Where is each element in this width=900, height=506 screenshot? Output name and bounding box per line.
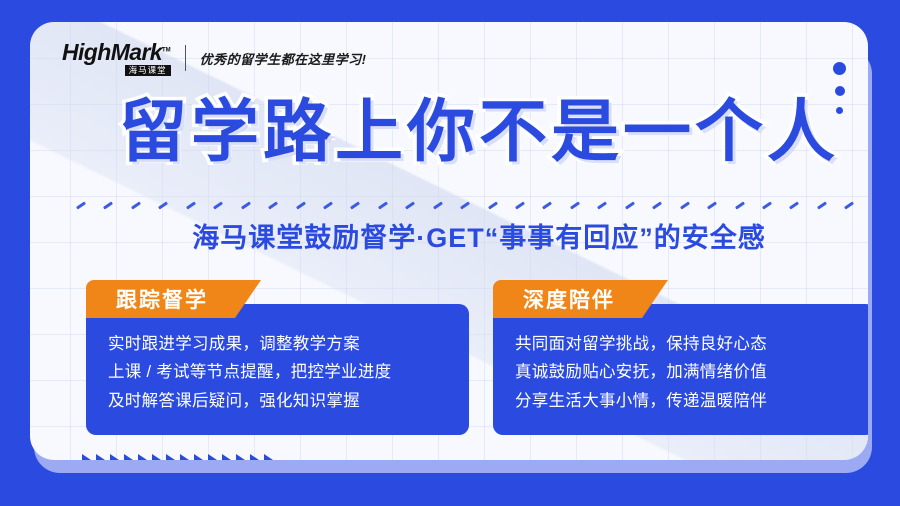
dash-mark-icon bbox=[186, 201, 196, 209]
dash-mark-icon bbox=[542, 201, 552, 209]
logo-wordmark-text: HighMark bbox=[62, 39, 162, 65]
card-title: 跟踪督学 bbox=[116, 284, 208, 314]
dot-decoration-group bbox=[833, 62, 846, 114]
page-subtitle: 海马课堂鼓励督学·GET“事事有回应”的安全感 bbox=[66, 220, 868, 258]
promotional-banner: HighMarkTM 海马课堂 优秀的留学生都在这里学习! 留学路上你不是一个人… bbox=[0, 0, 900, 506]
logo-wordmark: HighMarkTM bbox=[62, 41, 171, 64]
triangle-arrow-icon bbox=[110, 454, 119, 460]
card-header-banner: 深度陪伴 bbox=[493, 280, 668, 318]
card-body: 实时跟进学习成果，调整教学方案 上课 / 考试等节点提醒，把控学业进度 及时解答… bbox=[86, 304, 469, 435]
triangle-arrow-icon bbox=[166, 454, 175, 460]
content-panel: HighMarkTM 海马课堂 优秀的留学生都在这里学习! 留学路上你不是一个人… bbox=[30, 22, 868, 460]
triangle-arrow-icon bbox=[264, 454, 273, 460]
triangle-arrow-icon bbox=[250, 454, 259, 460]
dash-mark-icon bbox=[707, 201, 717, 209]
triangle-arrow-icon bbox=[152, 454, 161, 460]
dash-mark-icon bbox=[488, 201, 498, 209]
card-header-banner: 跟踪督学 bbox=[86, 280, 261, 318]
brand-header: HighMarkTM 海马课堂 优秀的留学生都在这里学习! bbox=[62, 38, 367, 78]
dash-mark-icon bbox=[405, 201, 415, 209]
small-dot-icon bbox=[836, 107, 843, 114]
trademark-icon: TM bbox=[162, 47, 171, 53]
triangle-arrow-icon bbox=[96, 454, 105, 460]
triangle-arrow-icon bbox=[180, 454, 189, 460]
dash-mark-icon bbox=[296, 201, 306, 209]
card-body: 共同面对留学挑战，保持良好心态 真诚鼓励贴心安抚，加满情绪价值 分享生活大事小情… bbox=[493, 304, 868, 435]
dash-mark-icon bbox=[460, 201, 470, 209]
card-line: 实时跟进学习成果，调整教学方案 bbox=[108, 330, 447, 358]
triangle-arrow-icon bbox=[82, 454, 91, 460]
medium-dot-icon bbox=[835, 86, 845, 96]
dash-mark-icon bbox=[323, 201, 333, 209]
card-title: 深度陪伴 bbox=[523, 284, 615, 314]
dash-mark-icon bbox=[844, 201, 854, 209]
triangle-arrow-icon bbox=[222, 454, 231, 460]
triangle-arrow-icon bbox=[138, 454, 147, 460]
dash-mark-icon bbox=[762, 201, 772, 209]
dash-mark-icon bbox=[597, 201, 607, 209]
dash-mark-icon bbox=[103, 201, 113, 209]
dash-mark-icon bbox=[680, 201, 690, 209]
dash-mark-icon bbox=[515, 201, 525, 209]
highmark-logo: HighMarkTM 海马课堂 bbox=[62, 39, 171, 77]
page-title: 留学路上你不是一个人 bbox=[66, 98, 868, 166]
dash-mark-icon bbox=[817, 201, 827, 209]
dash-mark-icon bbox=[268, 201, 278, 209]
feature-card-companionship: 深度陪伴 共同面对留学挑战，保持良好心态 真诚鼓励贴心安抚，加满情绪价值 分享生… bbox=[493, 280, 868, 435]
dash-mark-icon bbox=[433, 201, 443, 209]
triangle-arrow-icon bbox=[194, 454, 203, 460]
dash-mark-icon bbox=[378, 201, 388, 209]
brand-tagline: 优秀的留学生都在这里学习! bbox=[200, 49, 367, 68]
card-line: 真诚鼓励贴心安抚，加满情绪价值 bbox=[515, 358, 854, 386]
card-line: 及时解答课后疑问，强化知识掌握 bbox=[108, 387, 447, 415]
card-line: 共同面对留学挑战，保持良好心态 bbox=[515, 330, 854, 358]
dash-mark-icon bbox=[131, 201, 141, 209]
arrow-decoration-row bbox=[82, 454, 273, 460]
dash-mark-icon bbox=[213, 201, 223, 209]
dashed-divider bbox=[76, 198, 868, 212]
logo-subtitle: 海马课堂 bbox=[125, 65, 171, 76]
dash-mark-icon bbox=[735, 201, 745, 209]
feature-card-list: 跟踪督学 实时跟进学习成果，调整教学方案 上课 / 考试等节点提醒，把控学业进度… bbox=[86, 280, 868, 435]
card-line: 上课 / 考试等节点提醒，把控学业进度 bbox=[108, 358, 447, 386]
dash-mark-icon bbox=[350, 201, 360, 209]
feature-card-tracking: 跟踪督学 实时跟进学习成果，调整教学方案 上课 / 考试等节点提醒，把控学业进度… bbox=[86, 280, 469, 435]
card-line: 分享生活大事小情，传递温暖陪伴 bbox=[515, 387, 854, 415]
triangle-arrow-icon bbox=[208, 454, 217, 460]
header-divider bbox=[185, 45, 186, 71]
dash-mark-icon bbox=[241, 201, 251, 209]
dash-mark-icon bbox=[76, 201, 86, 209]
dash-mark-icon bbox=[570, 201, 580, 209]
dash-mark-icon bbox=[625, 201, 635, 209]
dash-mark-icon bbox=[158, 201, 168, 209]
triangle-arrow-icon bbox=[124, 454, 133, 460]
large-dot-icon bbox=[833, 62, 846, 75]
dash-mark-icon bbox=[789, 201, 799, 209]
triangle-arrow-icon bbox=[236, 454, 245, 460]
dash-mark-icon bbox=[652, 201, 662, 209]
